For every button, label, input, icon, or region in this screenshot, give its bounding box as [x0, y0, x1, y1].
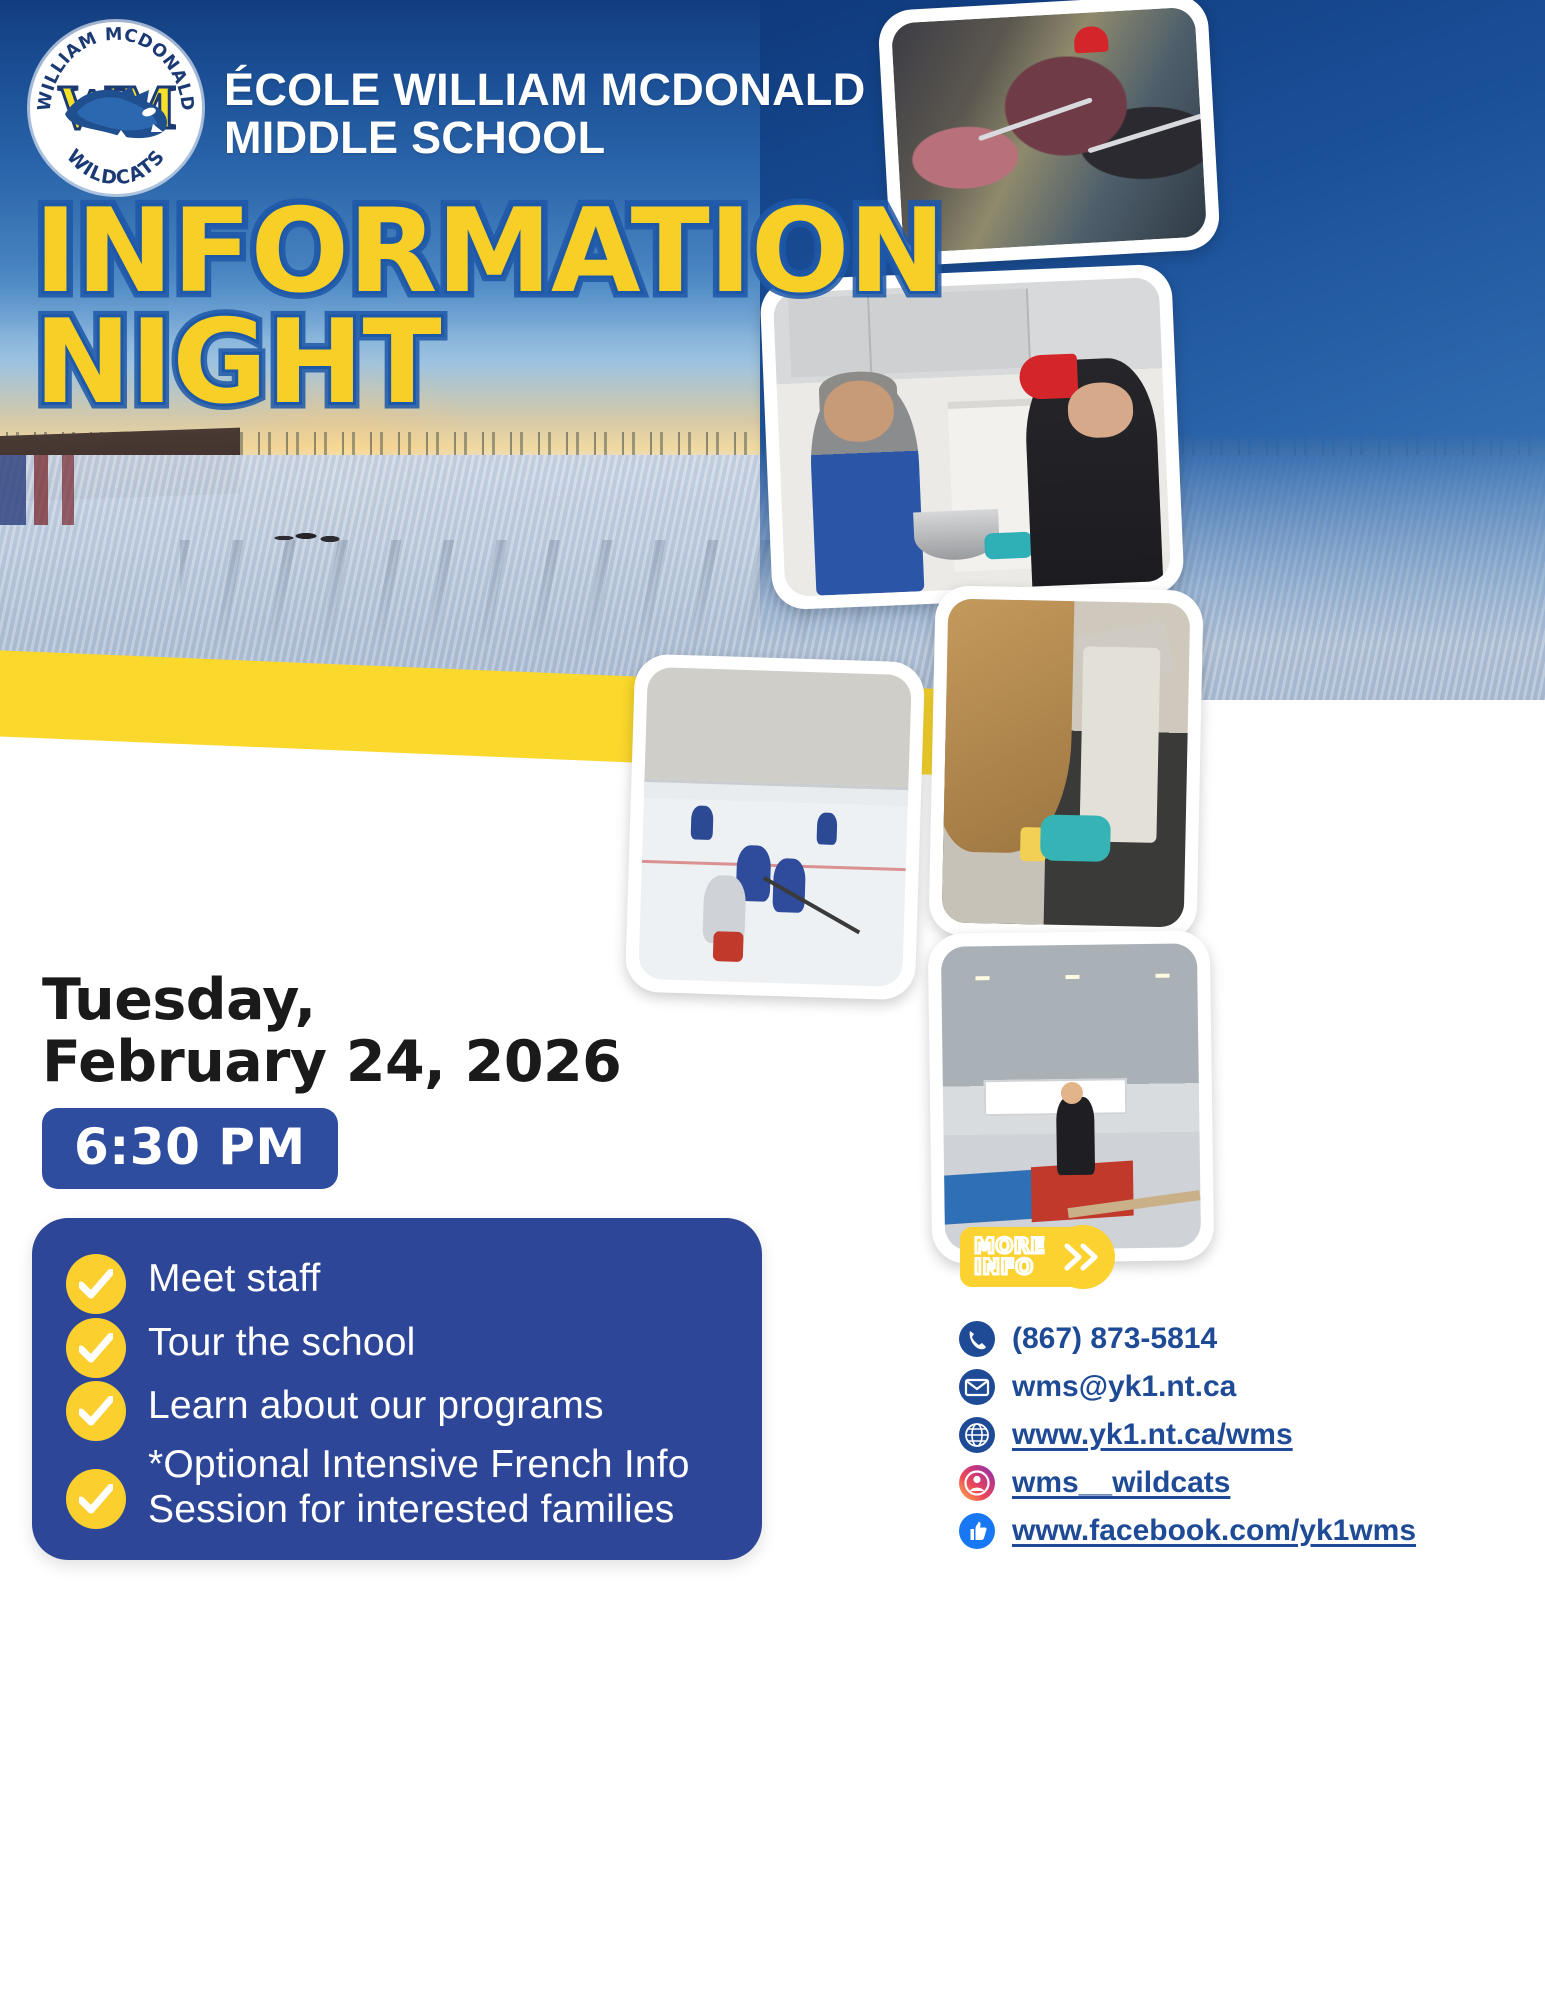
bullet-label: Tour the school	[148, 1316, 416, 1365]
list-item: Learn about our programs	[66, 1379, 732, 1441]
gymnastics-balance-beam-photo	[928, 930, 1215, 1264]
microscope-science-photo	[928, 585, 1203, 941]
event-date-line2: February 24, 2026	[42, 1032, 621, 1094]
logo-core: WM	[57, 54, 175, 162]
contact-row-facebook[interactable]: www.facebook.com/yk1wms	[958, 1512, 1416, 1550]
check-circle-icon	[66, 1381, 126, 1441]
bullet-label: Meet staff	[148, 1252, 321, 1301]
hockey-rink-photo	[625, 654, 925, 1001]
check-circle-icon	[66, 1254, 126, 1314]
event-time-badge: 6:30 PM	[42, 1108, 338, 1189]
bullet-label-multiline: *Optional Intensive French Info Session …	[148, 1443, 690, 1532]
contact-list: (867) 873-5814 wms@yk1.nt.ca	[958, 1320, 1416, 1550]
bullet-label-line2: Session for interested families	[148, 1488, 674, 1531]
page-title-line2: NIGHT	[34, 307, 945, 418]
contact-instagram-text: wms__wildcats	[1012, 1466, 1230, 1500]
page-title-line1: INFORMATION	[34, 196, 945, 307]
school-name-line2: MIDDLE SCHOOL	[224, 114, 866, 162]
instagram-icon	[958, 1464, 996, 1502]
contact-row-email[interactable]: wms@yk1.nt.ca	[958, 1368, 1416, 1406]
more-info-badge: MORE INFO	[960, 1225, 1115, 1289]
contact-row-phone[interactable]: (867) 873-5814	[958, 1320, 1416, 1358]
poster-root: WILLIAM MCDONALD WILDCATS WM	[0, 0, 1545, 1999]
page-title: INFORMATION NIGHT	[34, 196, 945, 419]
check-circle-icon	[66, 1318, 126, 1378]
contact-facebook-text: www.facebook.com/yk1wms	[1012, 1514, 1416, 1548]
bullet-label-line1: *Optional Intensive French Info	[148, 1443, 690, 1486]
header: WILLIAM MCDONALD WILDCATS WM	[30, 22, 866, 194]
event-date: Tuesday, February 24, 2026	[42, 970, 621, 1093]
facebook-thumb-icon	[958, 1512, 996, 1550]
contact-row-website[interactable]: www.yk1.nt.ca/wms	[958, 1416, 1416, 1454]
contact-website-text: www.yk1.nt.ca/wms	[1012, 1418, 1293, 1452]
list-item: *Optional Intensive French Info Session …	[66, 1443, 732, 1532]
contact-email-text: wms@yk1.nt.ca	[1012, 1370, 1236, 1404]
school-logo: WILLIAM MCDONALD WILDCATS WM	[30, 22, 202, 194]
more-info-line2: INFO	[974, 1257, 1045, 1278]
school-name: ÉCOLE WILLIAM MCDONALD MIDDLE SCHOOL	[224, 22, 866, 161]
phone-icon	[958, 1320, 996, 1358]
double-chevron-right-icon	[1051, 1225, 1115, 1289]
school-name-line1: ÉCOLE WILLIAM MCDONALD	[224, 66, 866, 114]
contact-phone-text: (867) 873-5814	[1012, 1322, 1217, 1356]
list-item: Tour the school	[66, 1316, 732, 1378]
bullet-label: Learn about our programs	[148, 1379, 604, 1428]
more-info-line1: MORE	[974, 1236, 1045, 1257]
bullet-panel: Meet staff Tour the school Learn about o…	[32, 1218, 762, 1560]
globe-icon	[958, 1416, 996, 1454]
wildcat-head-icon	[61, 84, 173, 140]
contact-row-instagram[interactable]: wms__wildcats	[958, 1464, 1416, 1502]
event-date-line1: Tuesday,	[42, 970, 621, 1032]
envelope-icon	[958, 1368, 996, 1406]
check-circle-icon	[66, 1469, 126, 1529]
list-item: Meet staff	[66, 1252, 732, 1314]
